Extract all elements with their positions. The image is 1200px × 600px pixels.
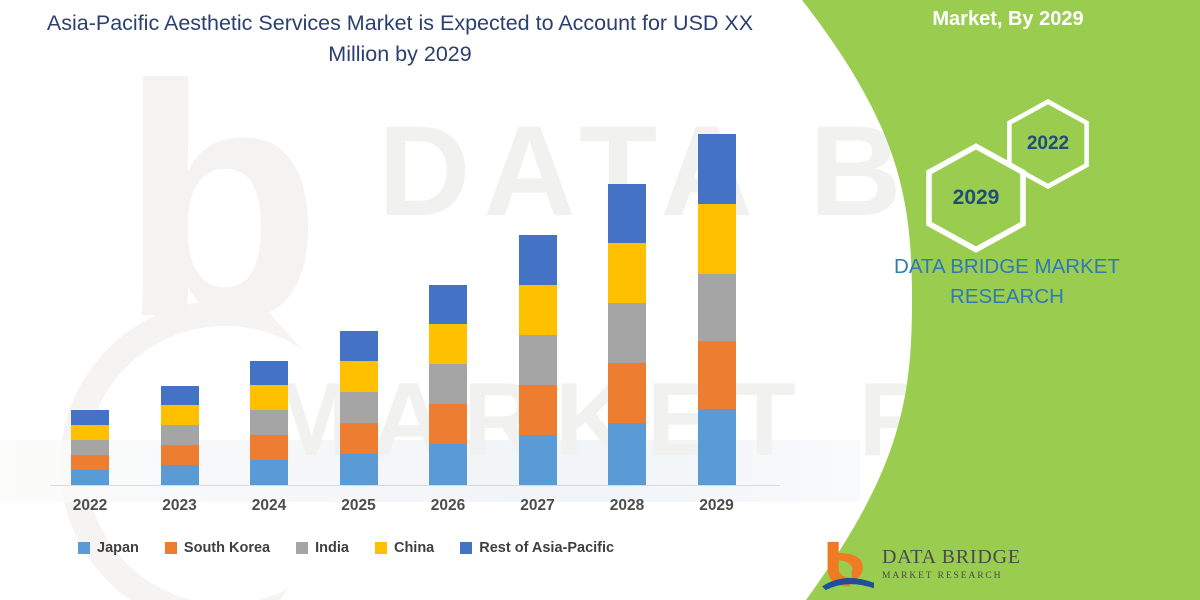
legend-swatch-icon — [296, 542, 308, 554]
panel-heading: Market, By 2029 — [780, 8, 1200, 31]
x-axis-label-2026: 2026 — [413, 497, 483, 515]
bar-segment-rest-of-asia-pacific[interactable] — [250, 361, 288, 385]
bar-segment-rest-of-asia-pacific[interactable] — [71, 410, 109, 425]
bar-segment-japan[interactable] — [608, 423, 646, 485]
legend-label: China — [394, 540, 434, 556]
bar-segment-china[interactable] — [608, 243, 646, 303]
bar-segment-china[interactable] — [429, 324, 467, 364]
bar-segment-india[interactable] — [161, 425, 199, 445]
legend-item-rest-of-asia-pacific[interactable]: Rest of Asia-Pacific — [460, 540, 614, 556]
infographic-root: b DATA BRIDGE MARKET RESEARCH Asia-Pacif… — [0, 0, 1200, 600]
bar-segment-china[interactable] — [698, 204, 736, 274]
x-axis-label-2029: 2029 — [682, 497, 752, 515]
bar-segment-china[interactable] — [71, 425, 109, 440]
bar-segment-china[interactable] — [519, 285, 557, 335]
x-axis-labels: 20222023202420252026202720282029 — [0, 497, 800, 521]
bar-segment-japan[interactable] — [161, 465, 199, 485]
x-axis-label-2023: 2023 — [145, 497, 215, 515]
bar-segment-rest-of-asia-pacific[interactable] — [340, 331, 378, 361]
bar-segment-south-korea[interactable] — [698, 341, 736, 409]
bar-segment-south-korea[interactable] — [340, 423, 378, 454]
bar-segment-japan[interactable] — [71, 470, 109, 485]
bar-segment-india[interactable] — [698, 274, 736, 341]
bar-2026[interactable] — [429, 285, 467, 485]
brand-name-line-1: DATA BRIDGE MARKET — [814, 252, 1200, 282]
brand-panel: Market, By 2029 2029 2022 DATA BRIDGE MA… — [780, 0, 1200, 600]
legend-item-japan[interactable]: Japan — [78, 540, 139, 556]
bar-segment-rest-of-asia-pacific[interactable] — [429, 285, 467, 324]
bar-segment-japan[interactable] — [519, 435, 557, 485]
bar-segment-india[interactable] — [519, 335, 557, 385]
company-logo: DATA BRIDGE MARKET RESEARCH — [820, 538, 1050, 596]
logo-text: DATA BRIDGE — [882, 546, 1021, 569]
legend-item-south-korea[interactable]: South Korea — [165, 540, 270, 556]
legend-swatch-icon — [460, 542, 472, 554]
hexagon-badge-2022: 2022 — [1002, 98, 1094, 190]
bar-2025[interactable] — [340, 331, 378, 485]
bar-segment-china[interactable] — [340, 361, 378, 392]
x-axis-label-2024: 2024 — [234, 497, 304, 515]
legend-item-india[interactable]: India — [296, 540, 349, 556]
brand-name: DATA BRIDGE MARKET RESEARCH — [780, 252, 1200, 311]
chart-legend: JapanSouth KoreaIndiaChinaRest of Asia-P… — [78, 540, 614, 556]
bar-segment-china[interactable] — [250, 385, 288, 410]
hexagon-label-2029: 2029 — [953, 186, 1000, 210]
data-bridge-logo-icon — [820, 540, 876, 592]
hexagon-label-2022: 2022 — [1027, 133, 1069, 155]
legend-swatch-icon — [78, 542, 90, 554]
bar-segment-rest-of-asia-pacific[interactable] — [519, 235, 557, 285]
bar-segment-rest-of-asia-pacific[interactable] — [698, 134, 736, 204]
bar-segment-japan[interactable] — [340, 454, 378, 485]
bar-2028[interactable] — [608, 184, 646, 485]
bar-segment-japan[interactable] — [250, 460, 288, 485]
bar-segment-china[interactable] — [161, 405, 199, 425]
bar-segment-india[interactable] — [250, 410, 288, 435]
bar-segment-india[interactable] — [608, 303, 646, 363]
chart-baseline — [50, 485, 780, 486]
bar-segment-rest-of-asia-pacific[interactable] — [161, 386, 199, 405]
bar-segment-south-korea[interactable] — [519, 385, 557, 435]
bar-segment-india[interactable] — [340, 392, 378, 423]
legend-label: Rest of Asia-Pacific — [479, 540, 614, 556]
legend-item-china[interactable]: China — [375, 540, 434, 556]
legend-label: India — [315, 540, 349, 556]
bar-2029[interactable] — [698, 134, 736, 485]
bar-segment-india[interactable] — [429, 364, 467, 404]
bar-2027[interactable] — [519, 235, 557, 485]
bar-segment-rest-of-asia-pacific[interactable] — [608, 184, 646, 243]
bar-segment-south-korea[interactable] — [161, 445, 199, 465]
bar-segment-south-korea[interactable] — [71, 455, 109, 470]
legend-label: South Korea — [184, 540, 270, 556]
x-axis-label-2027: 2027 — [503, 497, 573, 515]
bar-segment-south-korea[interactable] — [250, 435, 288, 460]
bar-segment-south-korea[interactable] — [608, 363, 646, 423]
bar-2023[interactable] — [161, 386, 199, 485]
bar-segment-japan[interactable] — [429, 444, 467, 485]
legend-swatch-icon — [165, 542, 177, 554]
chart-plot-area: 20222023202420252026202720282029 — [0, 0, 800, 600]
logo-subtext: MARKET RESEARCH — [882, 571, 1002, 581]
x-axis-label-2022: 2022 — [55, 497, 125, 515]
bar-segment-japan[interactable] — [698, 409, 736, 485]
legend-label: Japan — [97, 540, 139, 556]
bar-2022[interactable] — [71, 410, 109, 485]
x-axis-label-2025: 2025 — [324, 497, 394, 515]
x-axis-label-2028: 2028 — [592, 497, 662, 515]
bar-segment-india[interactable] — [71, 440, 109, 455]
brand-name-line-2: RESEARCH — [814, 282, 1200, 312]
legend-swatch-icon — [375, 542, 387, 554]
bar-2024[interactable] — [250, 361, 288, 485]
bar-segment-south-korea[interactable] — [429, 404, 467, 444]
